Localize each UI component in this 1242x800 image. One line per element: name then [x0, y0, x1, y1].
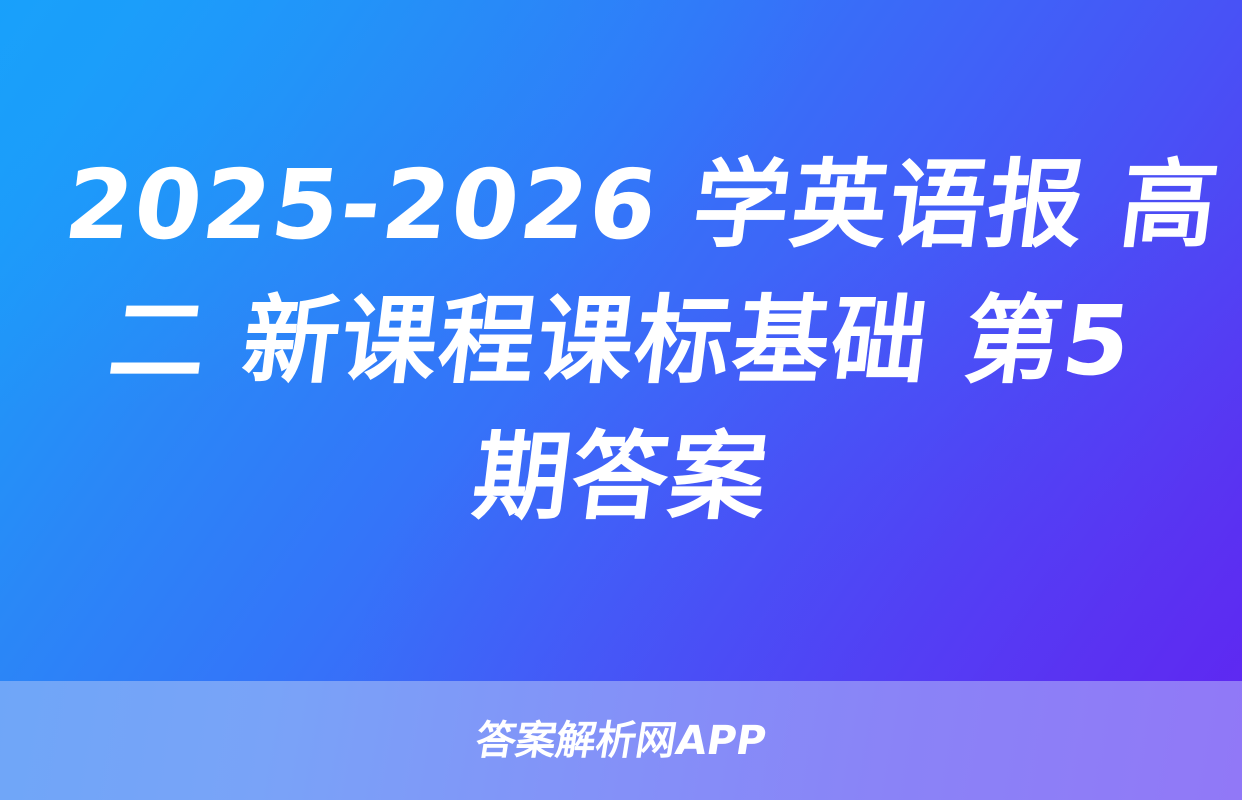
title-line-2: 二 新课程课标基础 第5 — [58, 273, 1185, 409]
title-line-3: 期答案 — [58, 409, 1185, 545]
footer-brand-band: 答案解析网APP — [0, 681, 1242, 800]
title-line-1: 2025-2026 学英语报 高 — [58, 137, 1185, 273]
poster-title: 2025-2026 学英语报 高 二 新课程课标基础 第5 期答案 — [66, 137, 1176, 545]
footer-brand-label: 答案解析网APP — [472, 717, 769, 765]
hero-gradient-banner: 2025-2026 学英语报 高 二 新课程课标基础 第5 期答案 — [0, 0, 1242, 681]
poster-canvas: 2025-2026 学英语报 高 二 新课程课标基础 第5 期答案 答案解析网A… — [0, 0, 1242, 800]
